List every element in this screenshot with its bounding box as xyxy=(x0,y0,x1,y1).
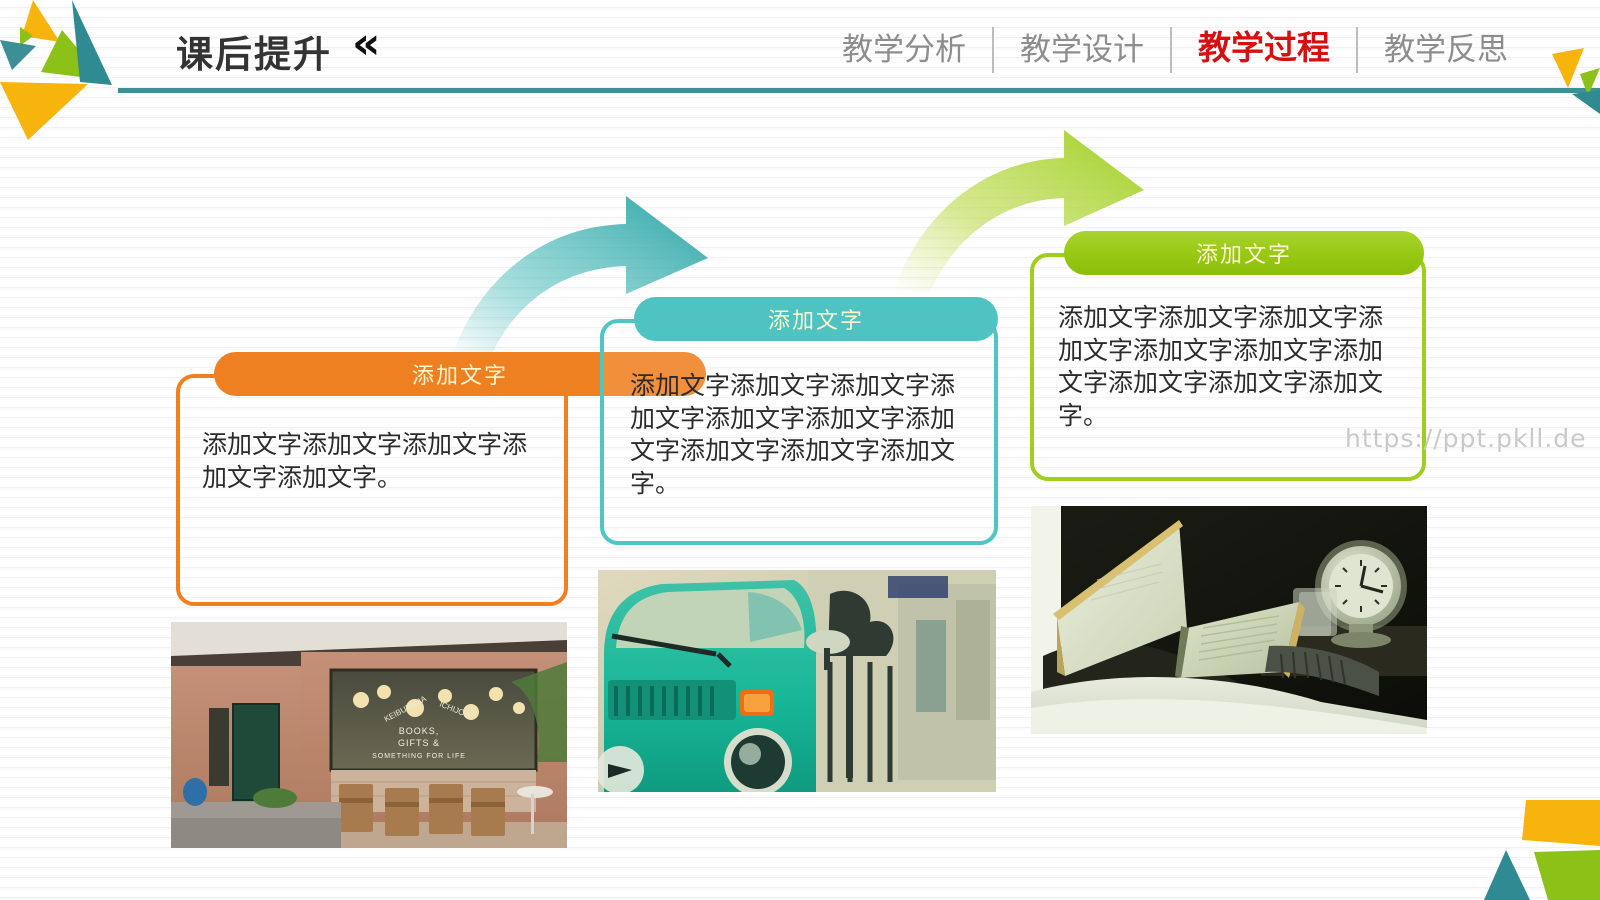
card-2-header-label: 添加文字 xyxy=(768,303,864,335)
slide-header: 课后提升 « 教学分析 教学设计 教学过程 教学反思 xyxy=(0,0,1600,96)
card-2-header-pill: 添加文字 xyxy=(634,297,998,341)
card-3-body-text: 添加文字添加文字添加文字添加文字添加文字添加文字添加文字添加文字添加文字添加文字… xyxy=(1058,303,1406,433)
content-card-2: 添加文字 添加文字添加文字添加文字添加文字添加文字添加文字添加文字添加文字添加文… xyxy=(600,297,998,545)
slide-canvas: 课后提升 « 教学分析 教学设计 教学过程 教学反思 xyxy=(0,0,1600,900)
card-3-header-label: 添加文字 xyxy=(1196,237,1292,269)
tab-teaching-process[interactable]: 教学过程 xyxy=(1172,31,1356,69)
card-1-body-text: 添加文字添加文字添加文字添加文字添加文字。 xyxy=(202,430,550,495)
card-2-body-text: 添加文字添加文字添加文字添加文字添加文字添加文字添加文字添加文字添加文字添加文字… xyxy=(630,371,978,501)
photo-open-book-bed-clock xyxy=(1031,506,1427,734)
card-3-header-pill: 添加文字 xyxy=(1064,231,1424,275)
content-card-1: 添加文字 添加文字添加文字添加文字添加文字添加文字。 xyxy=(176,352,568,606)
svg-text:GIFTS &: GIFTS & xyxy=(398,738,440,748)
double-chevron-left-icon: « xyxy=(352,22,380,66)
svg-text:BOOKS,: BOOKS, xyxy=(399,726,440,736)
card-1-header-label: 添加文字 xyxy=(412,358,508,390)
page-title: 课后提升 xyxy=(176,24,332,78)
header-divider-rule xyxy=(118,88,1600,93)
photo-bookstore-cafe: BOOKS, GIFTS & SOMETHING FOR LIFE KEIBUN… xyxy=(171,622,567,848)
tab-teaching-design[interactable]: 教学设计 xyxy=(994,32,1170,68)
svg-text:SOMETHING FOR LIFE: SOMETHING FOR LIFE xyxy=(372,753,466,760)
photo-teal-vintage-van xyxy=(598,570,996,792)
tab-teaching-analysis[interactable]: 教学分析 xyxy=(816,32,992,68)
content-card-3: 添加文字 添加文字添加文字添加文字添加文字添加文字添加文字添加文字添加文字添加文… xyxy=(1030,231,1426,481)
decoration-triangles-top-right xyxy=(1480,38,1600,128)
decoration-triangles-bottom-right xyxy=(1430,800,1600,900)
section-tabs: 教学分析 教学设计 教学过程 教学反思 xyxy=(816,22,1534,78)
